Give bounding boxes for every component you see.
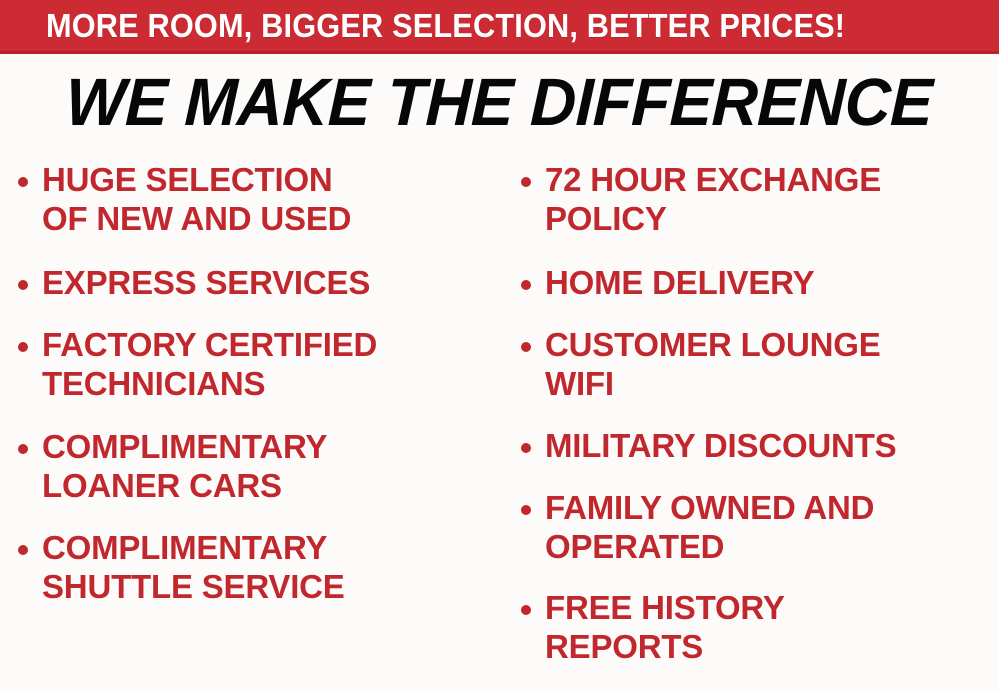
list-item: MILITARY DISCOUNTS (521, 426, 999, 465)
list-item: HOME DELIVERY (521, 263, 999, 302)
bullet-dot-icon (18, 444, 28, 454)
list-item-label: HUGE SELECTION OF NEW AND USED (42, 160, 498, 238)
bullet-dot-icon (18, 280, 28, 290)
bullet-dot-icon (18, 545, 28, 555)
list-item: CUSTOMER LOUNGE WIFI (521, 325, 999, 403)
benefits-column-right: 72 HOUR EXCHANGE POLICY HOME DELIVERY CU… (521, 160, 999, 666)
list-item: HUGE SELECTION OF NEW AND USED (18, 160, 498, 238)
list-item-label: EXPRESS SERVICES (42, 263, 498, 302)
list-item: COMPLIMENTARY LOANER CARS (18, 427, 498, 505)
list-item-label: FACTORY CERTIFIED TECHNICIANS (42, 325, 498, 403)
list-item-label: COMPLIMENTARY LOANER CARS (42, 427, 498, 505)
list-item-label: MILITARY DISCOUNTS (545, 426, 999, 465)
bullet-dot-icon (521, 177, 531, 187)
list-item: COMPLIMENTARY SHUTTLE SERVICE (18, 528, 498, 606)
top-banner: MORE ROOM, BIGGER SELECTION, BETTER PRIC… (0, 0, 999, 54)
list-item-label: CUSTOMER LOUNGE WIFI (545, 325, 999, 403)
promotional-poster: MORE ROOM, BIGGER SELECTION, BETTER PRIC… (0, 0, 999, 692)
bullet-dot-icon (521, 443, 531, 453)
list-item-label: FAMILY OWNED AND OPERATED (545, 488, 999, 566)
bullet-dot-icon (18, 342, 28, 352)
list-item: FAMILY OWNED AND OPERATED (521, 488, 999, 566)
main-headline: WE MAKE THE DIFFERENCE (0, 69, 999, 136)
page-title: WE MAKE THE DIFFERENCE (65, 69, 934, 136)
list-item: EXPRESS SERVICES (18, 263, 498, 302)
list-item: 72 HOUR EXCHANGE POLICY (521, 160, 999, 238)
list-item-label: COMPLIMENTARY SHUTTLE SERVICE (42, 528, 498, 606)
bullet-dot-icon (521, 605, 531, 615)
list-item-label: FREE HISTORY REPORTS (545, 588, 999, 666)
banner-headline-text: MORE ROOM, BIGGER SELECTION, BETTER PRIC… (46, 9, 845, 42)
list-item: FREE HISTORY REPORTS (521, 588, 999, 666)
bullet-dot-icon (521, 342, 531, 352)
list-item-label: HOME DELIVERY (545, 263, 999, 302)
benefits-column-left: HUGE SELECTION OF NEW AND USED EXPRESS S… (18, 160, 498, 606)
bullet-dot-icon (521, 280, 531, 290)
list-item: FACTORY CERTIFIED TECHNICIANS (18, 325, 498, 403)
list-item-label: 72 HOUR EXCHANGE POLICY (545, 160, 999, 238)
bullet-dot-icon (521, 505, 531, 515)
bullet-dot-icon (18, 177, 28, 187)
